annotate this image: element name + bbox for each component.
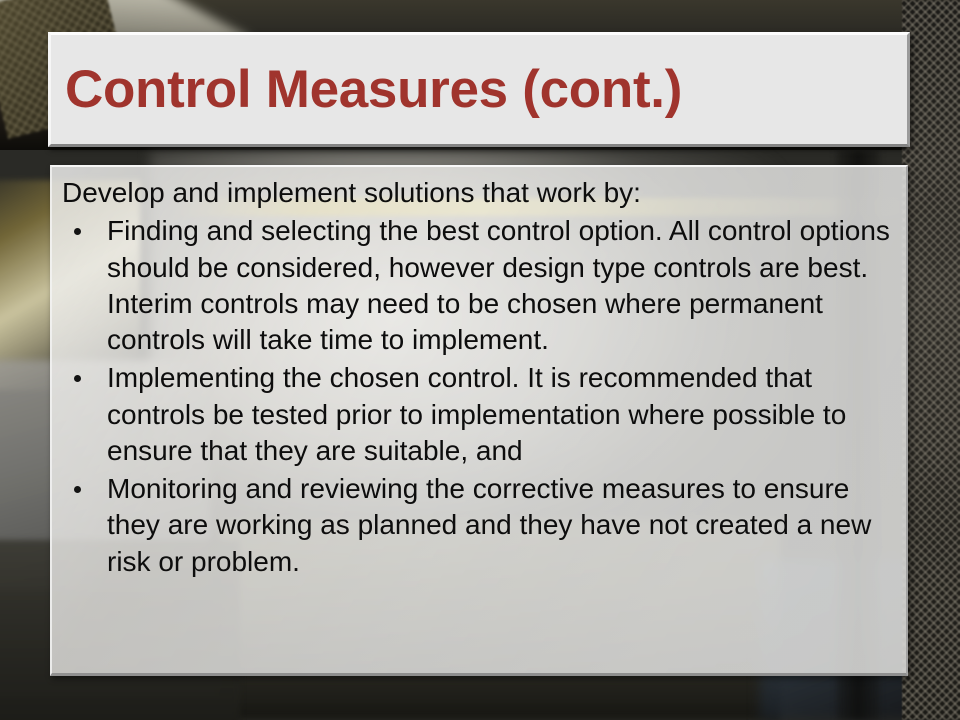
bullet-list: Finding and selecting the best control o… bbox=[62, 213, 894, 580]
background-grate-right bbox=[902, 0, 960, 720]
bullet-item-text: Implementing the chosen control. It is r… bbox=[107, 362, 846, 466]
bullet-item-text: Monitoring and reviewing the corrective … bbox=[107, 473, 871, 577]
bullet-item-text: Finding and selecting the best control o… bbox=[107, 215, 890, 355]
slide-title: Control Measures (cont.) bbox=[51, 63, 682, 116]
presentation-slide: Control Measures (cont.) Develop and imp… bbox=[0, 0, 960, 720]
bullet-item: Finding and selecting the best control o… bbox=[62, 213, 894, 358]
intro-paragraph: Develop and implement solutions that wor… bbox=[62, 175, 894, 211]
bullet-item: Implementing the chosen control. It is r… bbox=[62, 360, 894, 469]
slide-content-box: Develop and implement solutions that wor… bbox=[50, 165, 908, 676]
bullet-dot-icon bbox=[74, 486, 81, 493]
bullet-dot-icon bbox=[74, 228, 81, 235]
bullet-item: Monitoring and reviewing the corrective … bbox=[62, 471, 894, 580]
slide-title-box: Control Measures (cont.) bbox=[48, 32, 910, 147]
bullet-dot-icon bbox=[74, 375, 81, 382]
